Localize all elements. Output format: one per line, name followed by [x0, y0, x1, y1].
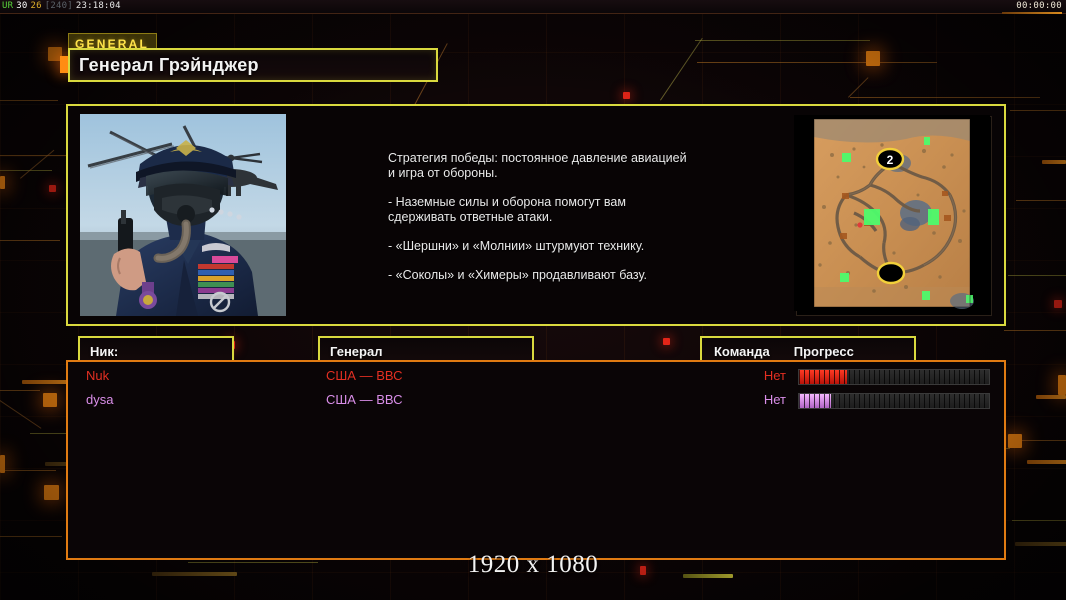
status-num1: 30 [16, 1, 27, 11]
player-progress-bar [798, 393, 990, 409]
portrait-image [80, 114, 286, 316]
top-status-bar: UR3026[240]23:18:04 00:00:00 [0, 0, 1066, 14]
description-paragraph: - «Шершни» и «Молнии» штурмуют технику. [388, 239, 818, 254]
general-portrait [80, 114, 286, 316]
description-paragraph: - Наземные силы и оборона помогут вам сд… [388, 195, 818, 225]
connection-status: UR3026[240]23:18:04 [2, 0, 124, 13]
progress-segments [799, 370, 989, 384]
column-header-team-label: Команда [702, 344, 770, 359]
column-header-progress-label: Прогресс [770, 344, 854, 359]
status-prefix: UR [2, 1, 13, 11]
table-row[interactable]: dysa США — ВВС Нет [68, 388, 1004, 412]
screen-root: UR3026[240]23:18:04 00:00:00 GENERAL Ген… [0, 0, 1066, 600]
status-bracket: [240] [45, 1, 73, 11]
player-team: Нет [730, 388, 786, 412]
column-header-general-label: Генерал [320, 344, 382, 359]
minimap[interactable]: 2 [794, 115, 990, 311]
player-nick: Nuk [86, 364, 109, 388]
strategy-description: Стратегия победы: постоянное давление ав… [388, 151, 818, 283]
resolution-label: 1920 x 1080 [0, 551, 1066, 579]
page-title: Генерал Грэйнджер [70, 55, 259, 76]
player-general: США — ВВС [326, 388, 403, 412]
match-clock-underline [1002, 12, 1062, 14]
description-paragraph: Стратегия победы: постоянное давление ав… [388, 151, 818, 181]
general-title-box: Генерал Грэйнджер [68, 48, 438, 82]
minimap-start-label: 2 [887, 153, 894, 167]
player-list-panel: Nuk США — ВВС Нет dysa США — ВВС Нет [66, 360, 1006, 560]
player-nick: dysa [86, 388, 113, 412]
progress-segments [799, 394, 989, 408]
minimap-start-position [878, 263, 904, 283]
description-paragraph: - «Соколы» и «Химеры» продавливают базу. [388, 268, 818, 283]
player-progress-bar [798, 369, 990, 385]
minimap-image: 2 [794, 115, 990, 311]
table-row[interactable]: Nuk США — ВВС Нет [68, 364, 1004, 388]
player-team: Нет [730, 364, 786, 388]
player-general: США — ВВС [326, 364, 403, 388]
status-num2: 26 [31, 1, 42, 11]
column-header-nick-label: Ник: [80, 344, 118, 359]
status-time: 23:18:04 [76, 1, 121, 11]
